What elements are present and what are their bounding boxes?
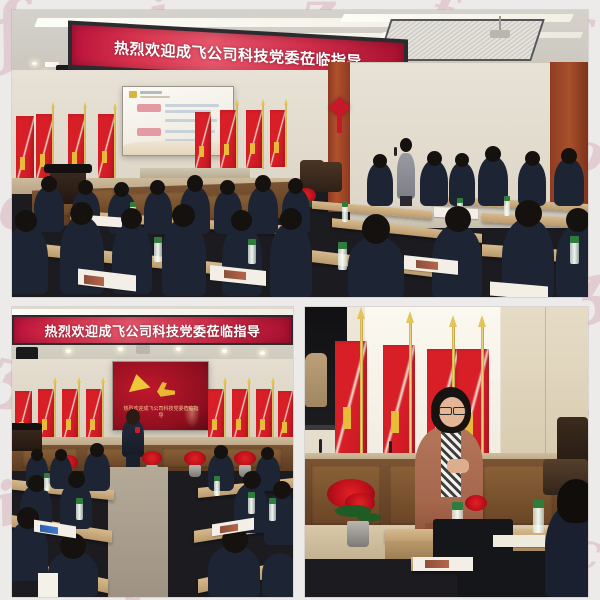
audience-head xyxy=(515,200,542,227)
poinsettia-flower xyxy=(234,451,256,466)
audience-member xyxy=(367,162,393,206)
audience-head xyxy=(273,481,291,499)
audience-member xyxy=(248,186,278,234)
water-bottle xyxy=(533,507,544,533)
speaker-glasses xyxy=(453,407,466,415)
red-flag xyxy=(232,389,249,441)
flag-pole xyxy=(272,383,274,441)
desk-microphone xyxy=(319,439,322,453)
projector xyxy=(490,30,510,38)
flag-pole xyxy=(78,383,80,441)
slide-text-line xyxy=(165,104,219,107)
flag-pole xyxy=(285,105,287,167)
red-flag xyxy=(208,389,225,441)
red-flag xyxy=(256,389,273,441)
water-bottle-cap xyxy=(269,498,276,504)
ceiling-downlight xyxy=(260,351,265,355)
audience-head xyxy=(427,151,442,166)
welcome-banner-text: 热烈欢迎成飞公司科技党委莅临指导 xyxy=(114,37,362,72)
red-flag xyxy=(220,110,237,170)
audience-head xyxy=(561,148,577,164)
water-bottle xyxy=(504,200,510,216)
flag-pole xyxy=(236,105,238,171)
microphone xyxy=(394,147,397,156)
audience-head xyxy=(214,445,228,459)
audience-head xyxy=(68,471,85,488)
water-bottle-cap xyxy=(457,198,463,203)
audience-head xyxy=(15,210,37,232)
audience-head xyxy=(373,154,387,168)
red-flag xyxy=(278,391,293,443)
water-bottle xyxy=(342,206,348,222)
audience-member xyxy=(554,158,584,206)
water-bottle-cap xyxy=(342,202,348,207)
desk-microphone xyxy=(389,441,392,453)
audience-head xyxy=(485,146,501,162)
audience-head xyxy=(243,471,261,489)
flag-pole xyxy=(360,317,363,457)
audience-head xyxy=(255,175,271,192)
audience-member xyxy=(222,224,262,296)
audience-head xyxy=(41,176,57,192)
seated-attendee-head xyxy=(557,479,588,523)
slide-heading-chip xyxy=(137,128,161,136)
flag-pole xyxy=(248,383,250,441)
red-flag xyxy=(86,389,103,441)
audience-head xyxy=(187,175,203,192)
water-bottle xyxy=(248,497,255,514)
projector xyxy=(136,345,150,354)
audience-member xyxy=(162,218,206,296)
podium xyxy=(12,427,42,451)
poinsettia-flower xyxy=(465,495,487,511)
audience-head xyxy=(445,206,471,232)
flag-pole-tip xyxy=(284,99,288,105)
flag-pole-tip xyxy=(449,315,457,327)
photo-speaker-closeup xyxy=(305,307,588,597)
audience-head xyxy=(121,208,142,229)
flag-pole-tip xyxy=(101,377,105,383)
ceiling-downlight xyxy=(222,349,227,353)
audience-head xyxy=(231,210,252,231)
document-photo xyxy=(425,560,449,568)
slide-silhouette xyxy=(184,406,200,428)
audience-head xyxy=(261,447,274,460)
audience-member xyxy=(12,224,48,294)
presenter-head xyxy=(126,409,140,425)
audience-head xyxy=(28,475,45,492)
water-bottle-cap xyxy=(452,502,463,510)
audience-head xyxy=(172,204,195,227)
center-aisle-floor xyxy=(108,467,168,597)
audience-head xyxy=(31,449,43,461)
water-bottle xyxy=(214,481,220,496)
chinese-knot-tassel xyxy=(337,117,342,133)
water-bottle xyxy=(44,477,50,491)
audience-head xyxy=(220,180,235,195)
photo-presenter-center-aisle: 热烈欢迎成飞公司科技党委莅临指导 热烈欢迎成飞公司科技党委莅临指导 xyxy=(12,307,293,597)
ceiling-downlight xyxy=(176,347,181,351)
flag-pole-tip xyxy=(247,377,251,383)
audience-member xyxy=(34,186,64,232)
flag-pole xyxy=(262,105,264,169)
podium-top xyxy=(44,164,92,173)
flag-pole-tip xyxy=(113,103,117,109)
speaker-hands xyxy=(447,459,469,473)
water-bottle-cap xyxy=(504,196,510,201)
slide-subtitle-line xyxy=(140,96,170,98)
audience-head xyxy=(150,180,165,195)
printed-document xyxy=(493,535,545,547)
audience-member xyxy=(262,553,293,597)
red-flag xyxy=(270,110,286,167)
flag-pole xyxy=(409,321,412,461)
red-flag xyxy=(195,112,211,172)
water-bottle-cap xyxy=(44,473,50,478)
audience-head xyxy=(78,180,93,195)
water-bottle-cap xyxy=(248,239,256,245)
slide-heading-chip xyxy=(137,104,161,112)
water-bottle xyxy=(154,242,162,262)
audience-member xyxy=(348,236,404,297)
audience-head xyxy=(55,449,67,461)
water-bottle-cap xyxy=(214,476,220,481)
water-bottle xyxy=(76,503,83,520)
flag-pole-tip xyxy=(223,377,227,383)
water-bottle xyxy=(269,503,276,521)
stone-ornament xyxy=(305,353,327,407)
flag-pole xyxy=(54,383,56,441)
party-emblem-hammer-sickle xyxy=(157,382,175,398)
audience-member xyxy=(84,451,110,491)
flag-pole xyxy=(102,383,104,441)
audience-member xyxy=(270,222,312,297)
flag-pole-tip xyxy=(261,99,265,105)
projection-screen xyxy=(122,86,234,156)
flag-pole xyxy=(224,383,226,441)
flag-pole-tip xyxy=(357,307,365,319)
flag-pole xyxy=(481,325,484,465)
water-bottle-cap xyxy=(76,498,83,504)
flag-pole-tip xyxy=(83,102,87,108)
flag-pole-tip xyxy=(406,311,414,323)
flag-pole-tip xyxy=(51,102,55,108)
flag-pole xyxy=(114,109,116,181)
audience-head xyxy=(280,208,302,230)
flag-pole-tip xyxy=(53,377,57,383)
photo-conference-wide: 热烈欢迎成飞公司科技党委莅临指导 xyxy=(12,10,588,297)
audience-head xyxy=(114,182,129,197)
audience-head xyxy=(362,214,390,244)
audience-head xyxy=(288,178,303,194)
standing-speaker-body xyxy=(397,153,415,199)
water-bottle xyxy=(248,244,256,264)
water-bottle-cap xyxy=(248,492,255,498)
poinsettia-flower xyxy=(142,451,162,465)
flag-pole-tip xyxy=(235,99,239,105)
photo-collage: 热烈欢迎成飞公司科技党委莅临指导 xyxy=(0,0,600,600)
red-flag xyxy=(62,389,79,441)
podium-top xyxy=(12,423,42,430)
water-bottle-cap xyxy=(130,202,136,207)
poinsettia-pot xyxy=(189,465,201,477)
audience-member xyxy=(518,160,546,206)
slide-title-line xyxy=(140,91,162,94)
welcome-banner: 热烈欢迎成飞公司科技党委莅临指导 xyxy=(14,317,291,343)
welcome-banner-text: 热烈欢迎成飞公司科技党委莅临指导 xyxy=(44,321,260,340)
water-bottle xyxy=(338,248,347,270)
flag-pole-tip xyxy=(77,377,81,383)
ceiling-downlight xyxy=(66,349,71,353)
audience-head xyxy=(525,151,540,166)
ceiling-downlight xyxy=(118,347,123,351)
audience-member xyxy=(420,160,448,206)
standing-speaker-head xyxy=(400,138,412,152)
audience-head xyxy=(566,208,588,232)
party-emblem-star xyxy=(126,372,151,392)
water-bottle-cap xyxy=(154,237,162,243)
poinsettia-pot xyxy=(347,521,369,547)
printed-document xyxy=(38,573,58,597)
stage-armchair xyxy=(320,162,342,192)
water-bottle xyxy=(570,242,579,264)
poinsettia-flower xyxy=(184,451,206,466)
red-flag xyxy=(98,114,115,180)
slide-bottom-band xyxy=(123,141,233,155)
audience-head xyxy=(455,153,469,167)
slide-logo xyxy=(129,91,137,98)
flag-pole-tip xyxy=(271,377,275,383)
red-flag xyxy=(246,110,263,168)
audience-head xyxy=(90,443,104,457)
presenter-badge xyxy=(135,427,140,433)
audience-head xyxy=(70,202,93,225)
water-bottle-cap xyxy=(338,242,347,249)
water-bottle-cap xyxy=(570,236,579,243)
flag-pole-tip xyxy=(478,315,486,327)
ceiling-downlight xyxy=(32,62,37,65)
speaker-glasses xyxy=(439,407,452,415)
water-bottle-cap xyxy=(533,500,544,508)
